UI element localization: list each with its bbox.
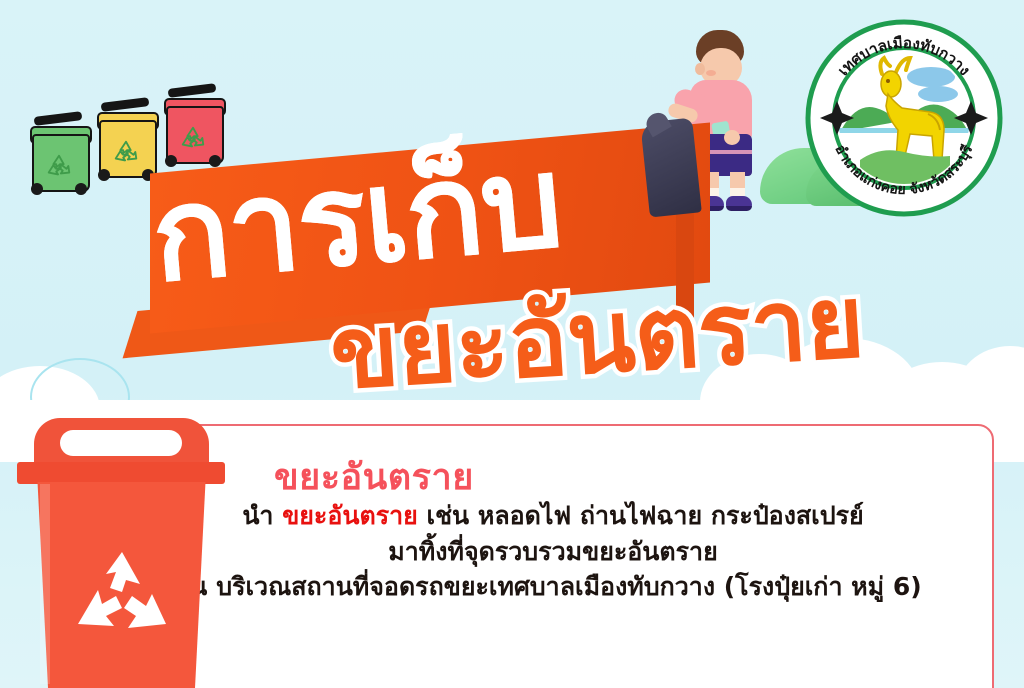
large-red-bin-illustration [8, 418, 234, 688]
card-heading: ขยะอันตราย [274, 448, 474, 505]
bin-wheel [98, 169, 110, 181]
large-bin-rim [17, 462, 225, 484]
bin-wheel [31, 183, 43, 195]
large-bin-handle-slot [60, 430, 182, 456]
bin-handle-icon [101, 97, 150, 112]
recycle-icon [44, 152, 74, 180]
municipal-seal-logo: เทศบาลเมืองทับกวาง อำเภอแก่งคอย จังหวัดส… [800, 14, 1008, 222]
boy-shoe-sole [726, 206, 752, 211]
card-line1-pre: นำ [242, 501, 273, 530]
card-line1-highlight: ขยะอันตราย [282, 501, 418, 530]
cloud-icon [918, 86, 958, 102]
cloud-icon [907, 67, 955, 87]
boy-hand [724, 130, 740, 145]
bin-handle-icon [34, 111, 83, 126]
boy-cheek [706, 70, 716, 76]
card-body-line-1: นำ ขยะอันตราย เช่น หลอดไฟ ถ่านไฟฉาย กระป… [150, 498, 956, 534]
poster-title-line1: การเก็บ [147, 138, 565, 301]
card-body-text: นำ ขยะอันตราย เช่น หลอดไฟ ถ่านไฟฉาย กระป… [150, 498, 956, 605]
bin-wheel [75, 183, 87, 195]
recycle-icon [68, 546, 176, 646]
bin-handle-icon [168, 83, 217, 98]
bin-green [28, 112, 90, 190]
poster-canvas: เทศบาลเมืองทับกวาง อำเภอแก่งคอย จังหวัดส… [0, 0, 1024, 688]
info-card: ขยะอันตราย นำ ขยะอันตราย เช่น หลอดไฟ ถ่า… [112, 424, 994, 688]
card-line1-post: เช่น หลอดไฟ ถ่านไฟฉาย กระป๋องสเปรย์ [427, 501, 864, 530]
poster-title-line2: ขยะอันตราย [327, 272, 866, 404]
card-body-line-2: มาทิ้งที่จุดรวบรวมขยะอันตราย [150, 534, 956, 570]
card-body-line-3: ณ บริเวณสถานที่จอดรถขยะเทศบาลเมืองทับกวา… [150, 569, 956, 605]
boy-ear [695, 63, 705, 75]
trash-bag-icon [640, 118, 702, 218]
large-bin-highlight [40, 484, 50, 684]
